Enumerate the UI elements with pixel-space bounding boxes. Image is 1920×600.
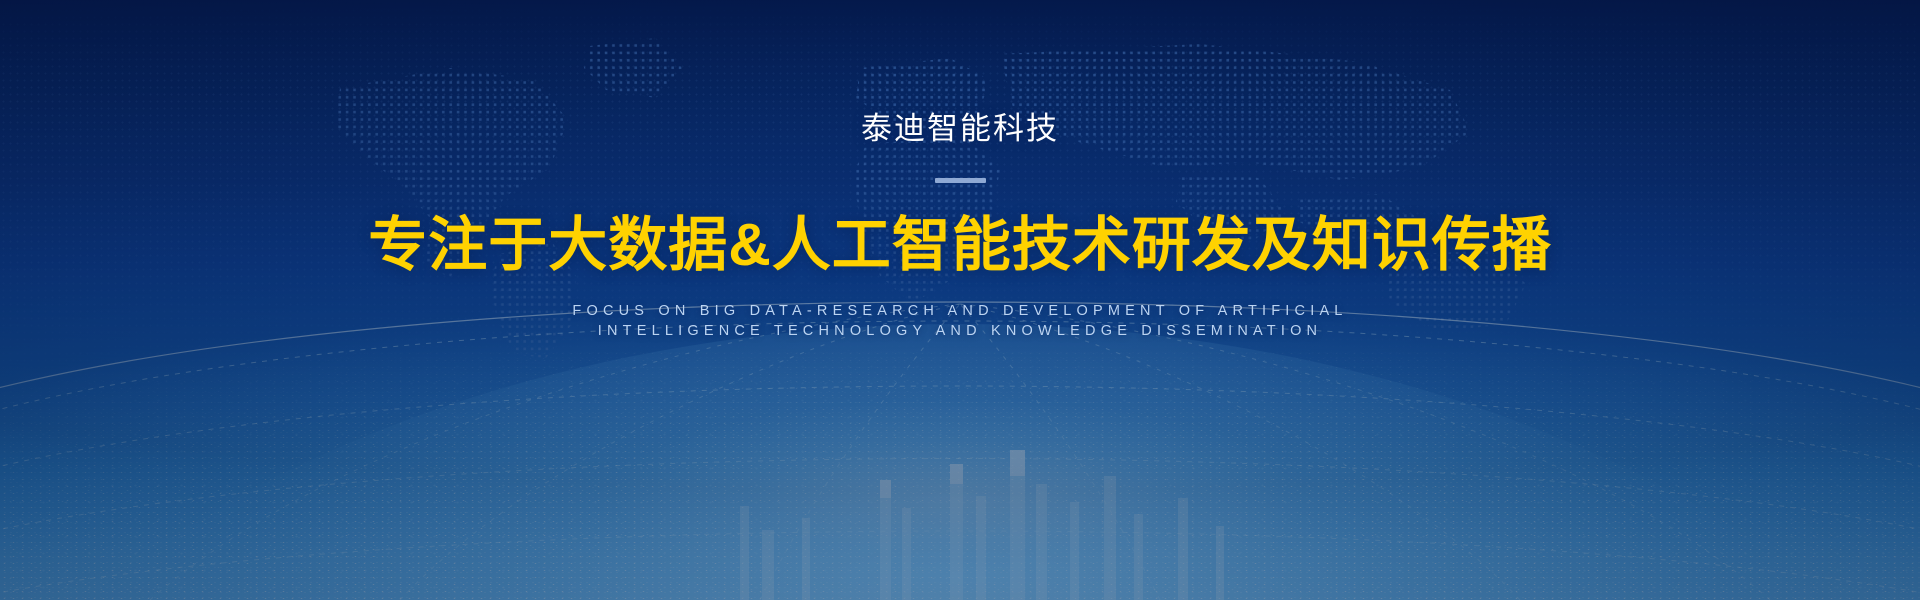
hero-banner: 泰迪智能科技 专注于大数据&人工智能技术研发及知识传播 FOCUS ON BIG… [0,0,1920,600]
title-divider [935,178,986,183]
subtitle-line-2: INTELLIGENCE TECHNOLOGY AND KNOWLEDGE DI… [572,321,1347,341]
banner-content: 泰迪智能科技 专注于大数据&人工智能技术研发及知识传播 FOCUS ON BIG… [0,0,1920,600]
subtitle-block: FOCUS ON BIG DATA-RESEARCH AND DEVELOPME… [572,301,1347,341]
page-headline: 专注于大数据&人工智能技术研发及知识传播 [368,216,1552,275]
company-name: 泰迪智能科技 [861,113,1059,144]
subtitle-line-1: FOCUS ON BIG DATA-RESEARCH AND DEVELOPME… [572,301,1347,321]
